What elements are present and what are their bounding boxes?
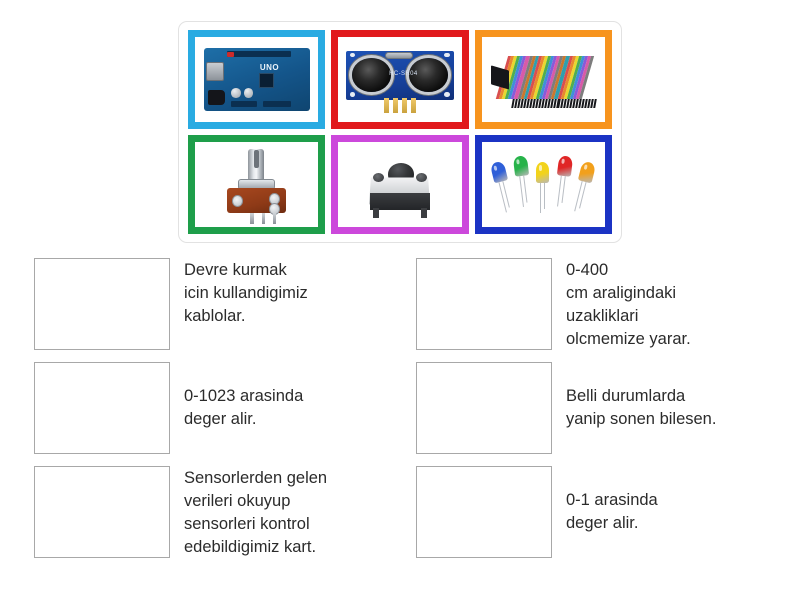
match-row: Devre kurmak icin kullandigimiz kablolar… [34,258,394,350]
hc-sr04-ultrasonic-sensor-image: HC-SR04 [338,37,461,122]
drop-target-2[interactable] [34,362,170,454]
led-4 [557,155,573,177]
led-3 [536,162,550,182]
arduino-uno-board-image: UNO [195,37,318,122]
description-text-2: 0-1023 arasinda deger alir. [184,362,303,454]
drop-target-5[interactable] [416,362,552,454]
led-image [482,142,605,227]
tile-push-button[interactable] [331,135,468,234]
tile-jumper-wires[interactable] [475,30,612,129]
tile-arduino-uno[interactable]: UNO [188,30,325,129]
jumper-wires-image [482,37,605,122]
answers-left-column: Devre kurmak icin kullandigimiz kablolar… [34,258,394,558]
match-row: 0-1023 arasinda deger alir. [34,362,394,454]
led-5 [578,161,596,184]
description-text-3: Sensorlerden gelen verileri okuyup senso… [184,466,327,558]
description-text-4: 0-400 cm araligindaki uzakliklari olcmem… [566,258,691,350]
drop-target-1[interactable] [34,258,170,350]
description-text-6: 0-1 arasinda deger alir. [566,466,658,558]
tile-leds[interactable] [475,135,612,234]
description-text-5: Belli durumlarda yanip sonen bilesen. [566,362,716,454]
push-button-image [338,142,461,227]
led-2 [513,155,529,177]
tile-ultrasonic-sensor[interactable]: HC-SR04 [331,30,468,129]
board-label: UNO [260,63,279,72]
led-1 [489,161,507,184]
match-row: 0-400 cm araligindaki uzakliklari olcmem… [416,258,786,350]
drop-target-3[interactable] [34,466,170,558]
match-row: Sensorlerden gelen verileri okuyup senso… [34,466,394,558]
match-row: 0-1 arasinda deger alir. [416,466,786,558]
drop-target-6[interactable] [416,466,552,558]
drop-target-4[interactable] [416,258,552,350]
answers-right-column: 0-400 cm araligindaki uzakliklari olcmem… [416,258,786,558]
sensor-label: HC-SR04 [389,71,417,77]
match-up-activity-page: UNO HC-SR04 [0,0,800,600]
potentiometer-image [195,142,318,227]
match-row: Belli durumlarda yanip sonen bilesen. [416,362,786,454]
component-image-grid: UNO HC-SR04 [178,21,622,243]
tile-potentiometer[interactable] [188,135,325,234]
description-text-1: Devre kurmak icin kullandigimiz kablolar… [184,258,308,350]
